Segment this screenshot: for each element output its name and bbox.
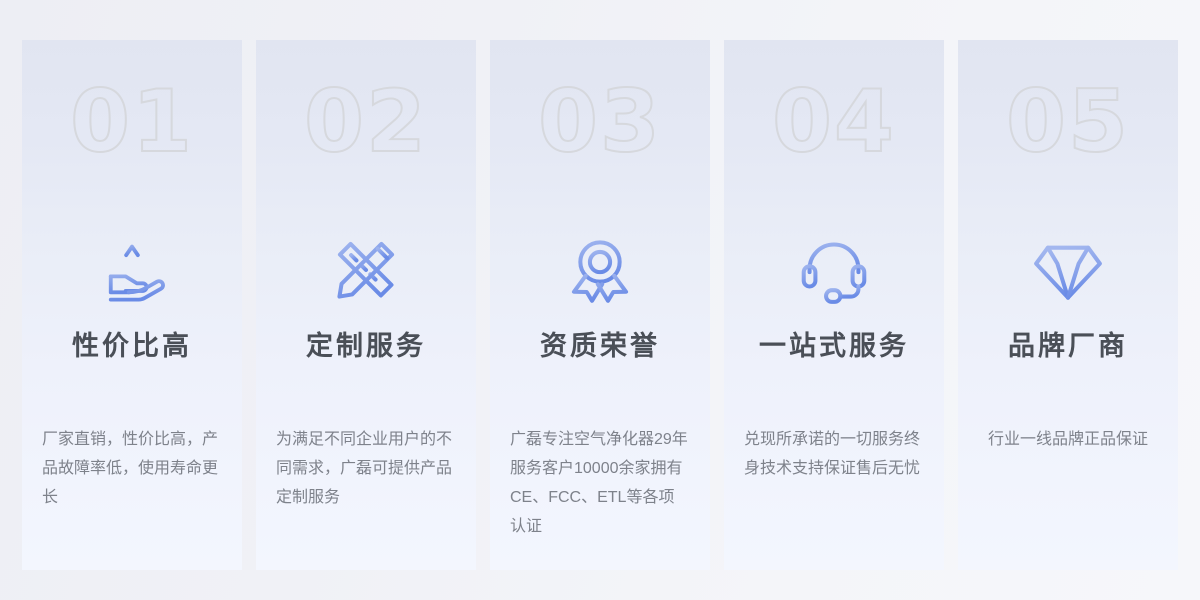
card-title: 品牌厂商 [1008, 324, 1128, 363]
card-title: 性价比高 [72, 324, 192, 363]
card-title: 定制服务 [306, 324, 426, 363]
card-number-badge: 02 [304, 72, 428, 172]
card-description: 广磊专注空气净化器29年服务客户10000余家拥有CE、FCC、ETL等各项认证 [510, 425, 690, 541]
feature-card-3[interactable]: 03 资质荣誉 广磊专注空气净化器29年服务客户10000余家拥有CE、FCC、 [490, 40, 710, 570]
card-description: 行业一线品牌正品保证 [978, 425, 1158, 454]
feature-card-2[interactable]: 02 [256, 40, 476, 570]
feature-card-5[interactable]: 05 品牌厂商 行业一线品牌正品保证 [958, 40, 1178, 570]
feature-card-1[interactable]: 01 [22, 40, 242, 570]
feature-card-4[interactable]: 04 一站式服务 兑现所承诺的一切服务终身技术支持保证售后 [724, 40, 944, 570]
feature-cards-board: 01 [0, 0, 1200, 600]
card-number-badge: 03 [538, 72, 662, 172]
award-ribbon-icon [564, 234, 636, 306]
card-title: 资质荣誉 [540, 324, 660, 363]
card-description: 厂家直销，性价比高，产品故障率低，使用寿命更长 [42, 425, 222, 512]
headset-icon [798, 234, 870, 306]
card-number-badge: 01 [70, 72, 194, 172]
card-number-badge: 04 [772, 72, 896, 172]
hand-holding-money-icon [96, 234, 168, 306]
card-description: 为满足不同企业用户的不同需求，广磊可提供产品定制服务 [276, 425, 456, 512]
pencil-ruler-icon [330, 234, 402, 306]
card-number-badge: 05 [1006, 72, 1130, 172]
card-description: 兑现所承诺的一切服务终身技术支持保证售后无忧 [744, 425, 924, 483]
card-title: 一站式服务 [759, 324, 909, 363]
diamond-icon [1032, 234, 1104, 306]
